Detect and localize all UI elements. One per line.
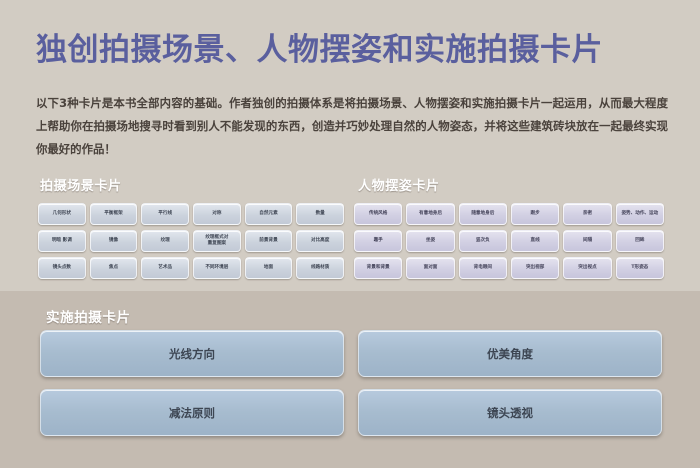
scene-card-6[interactable]: 数量 xyxy=(296,203,344,225)
pose-card-18[interactable]: T形姿态 xyxy=(616,257,664,279)
pose-card-8[interactable]: 坐姿 xyxy=(406,230,454,252)
pose-card-5[interactable]: 亲密 xyxy=(563,203,611,225)
pose-card-grid: 传统风格有意地身后随意地身后跟步亲密姿势、动作、运动靠手坐姿竖次负直线间隔回眸背… xyxy=(354,203,664,279)
scene-card-5[interactable]: 自然元素 xyxy=(245,203,293,225)
pose-card-16[interactable]: 突出视部 xyxy=(511,257,559,279)
scene-card-4[interactable]: 对称 xyxy=(193,203,241,225)
pose-card-4[interactable]: 跟步 xyxy=(511,203,559,225)
pose-card-13[interactable]: 背景和背景 xyxy=(354,257,402,279)
section-title-scene: 拍摄场景卡片 xyxy=(40,175,122,194)
scene-card-14[interactable]: 焦点 xyxy=(90,257,138,279)
scene-card-9[interactable]: 纹理 xyxy=(141,230,189,252)
intro-paragraph: 以下3种卡片是本书全部内容的基础。作者独创的拍摄体系是将拍摄场景、人物摆姿和实施… xyxy=(36,92,668,160)
scene-card-2[interactable]: 平衡框架 xyxy=(90,203,138,225)
scene-card-18[interactable]: 线路材质 xyxy=(296,257,344,279)
pose-card-9[interactable]: 竖次负 xyxy=(459,230,507,252)
scene-card-11[interactable]: 前景背景 xyxy=(245,230,293,252)
scene-card-10[interactable]: 纹理框式对重复图案 xyxy=(193,230,241,252)
pose-card-17[interactable]: 突出视点 xyxy=(563,257,611,279)
scene-card-1[interactable]: 几何形状 xyxy=(38,203,86,225)
pose-card-7[interactable]: 靠手 xyxy=(354,230,402,252)
pose-card-14[interactable]: 面对面 xyxy=(406,257,454,279)
pose-card-10[interactable]: 直线 xyxy=(511,230,559,252)
pose-card-1[interactable]: 传统风格 xyxy=(354,203,402,225)
section-title-execution: 实施拍摄卡片 xyxy=(46,306,131,326)
pose-card-15[interactable]: 背电眼间 xyxy=(459,257,507,279)
execution-card-1[interactable]: 光线方向 xyxy=(40,330,344,377)
poster-page: 独创拍摄场景、人物摆姿和实施拍摄卡片 以下3种卡片是本书全部内容的基础。作者独创… xyxy=(0,0,700,468)
section-title-pose: 人物摆姿卡片 xyxy=(358,175,440,194)
scene-card-15[interactable]: 艺术品 xyxy=(141,257,189,279)
scene-card-7[interactable]: 明暗 影调 xyxy=(38,230,86,252)
scene-card-13[interactable]: 镜头点数 xyxy=(38,257,86,279)
pose-card-12[interactable]: 回眸 xyxy=(616,230,664,252)
scene-card-12[interactable]: 对比高度 xyxy=(296,230,344,252)
execution-card-4[interactable]: 镜头透视 xyxy=(358,389,662,436)
scene-card-3[interactable]: 平行线 xyxy=(141,203,189,225)
scene-card-17[interactable]: 地面 xyxy=(245,257,293,279)
execution-card-grid: 光线方向优美角度减法原则镜头透视 xyxy=(40,330,662,436)
scene-card-16[interactable]: 不同环境层 xyxy=(193,257,241,279)
pose-card-11[interactable]: 间隔 xyxy=(563,230,611,252)
execution-card-2[interactable]: 优美角度 xyxy=(358,330,662,377)
pose-card-6[interactable]: 姿势、动作、运动 xyxy=(616,203,664,225)
pose-card-3[interactable]: 随意地身后 xyxy=(459,203,507,225)
scene-card-grid: 几何形状平衡框架平行线对称自然元素数量明暗 影调镜像纹理纹理框式对重复图案前景背… xyxy=(38,203,344,279)
execution-card-3[interactable]: 减法原则 xyxy=(40,389,344,436)
pose-card-2[interactable]: 有意地身后 xyxy=(406,203,454,225)
page-title: 独创拍摄场景、人物摆姿和实施拍摄卡片 xyxy=(36,33,676,68)
scene-card-8[interactable]: 镜像 xyxy=(90,230,138,252)
